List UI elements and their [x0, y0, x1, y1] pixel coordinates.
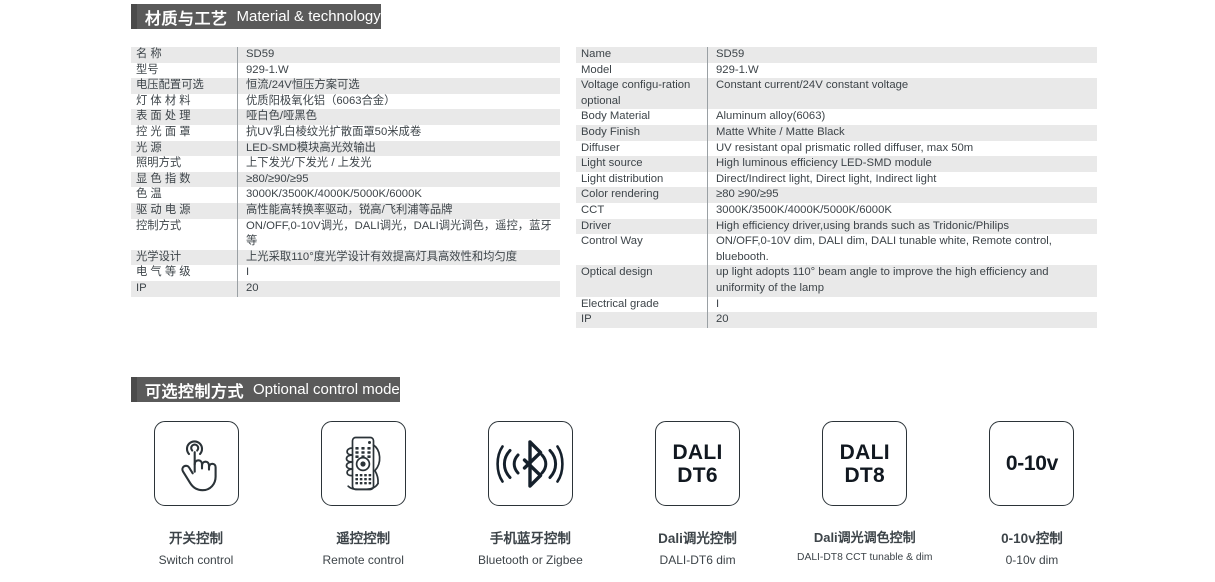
- table-row: Body FinishMatte White / Matte Black: [576, 125, 1097, 141]
- control-mode-label-en: DALI-DT8 CCT tunable & dim: [797, 552, 932, 563]
- dali-text-line2: DT6: [672, 464, 722, 487]
- touch-hand-icon-box[interactable]: [154, 421, 239, 506]
- spec-value: I: [238, 265, 560, 281]
- spec-value: Direct/Indirect light, Direct light, Ind…: [708, 172, 1097, 188]
- dali-dt6-icon-box[interactable]: DALIDT6: [655, 421, 740, 506]
- table-row: 显 色 指 数≥80/≥90/≥95: [131, 172, 560, 188]
- spec-value: ≥80 ≥90/≥95: [708, 187, 1097, 203]
- table-row: 型号929-1.W: [131, 63, 560, 79]
- control-mode-label-en: DALI-DT6 dim: [660, 553, 736, 567]
- table-row: Electrical gradeI: [576, 297, 1097, 313]
- dali-text-line2: DT8: [840, 464, 890, 487]
- control-mode-item[interactable]: 遥控控制Remote control: [298, 421, 428, 567]
- dali-dt8-icon-box[interactable]: DALIDT8: [822, 421, 907, 506]
- control-mode-label-cn: Dali调光调色控制: [814, 527, 916, 546]
- table-row: 电压配置可选恒流/24V恒压方案可选: [131, 78, 560, 94]
- spec-label: 光学设计: [131, 250, 237, 266]
- spec-label: Name: [576, 47, 707, 63]
- control-mode-label-en: Remote control: [323, 553, 404, 567]
- table-row: 光 源LED-SMD模块高光效输出: [131, 141, 560, 157]
- table-row: 电 气 等 级I: [131, 265, 560, 281]
- spec-value: Matte White / Matte Black: [708, 125, 1097, 141]
- spec-value: UV resistant opal prismatic rolled diffu…: [708, 141, 1097, 157]
- table-row: 名 称SD59: [131, 47, 560, 63]
- spec-label: 光 源: [131, 141, 237, 157]
- zero-to-ten-volt-icon: 0-10v: [1006, 452, 1058, 476]
- table-row: 驱 动 电 源高性能高转换率驱动，锐高/飞利浦等品牌: [131, 203, 560, 219]
- spec-label: Model: [576, 63, 707, 79]
- spec-value: SD59: [708, 47, 1097, 63]
- control-mode-label-en: Switch control: [159, 553, 234, 567]
- table-row: 光学设计上光采取110°度光学设计有效提高灯具高效性和均匀度: [131, 250, 560, 266]
- spec-value: ON/OFF,0-10V dim, DALI dim, DALI tunable…: [708, 234, 1097, 265]
- spec-label: Light source: [576, 156, 707, 172]
- spec-label: CCT: [576, 203, 707, 219]
- spec-value: Constant current/24V constant voltage: [708, 78, 1097, 109]
- spec-label: Control Way: [576, 234, 707, 265]
- spec-value: up light adopts 110° beam angle to impro…: [708, 265, 1097, 296]
- spec-value: LED-SMD模块高光效输出: [238, 141, 560, 157]
- bluetooth-icon-box[interactable]: [488, 421, 573, 506]
- table-row: 灯 体 材 料优质阳极氧化铝（6063合金）: [131, 94, 560, 110]
- touch-hand-icon: [168, 434, 224, 494]
- spec-label: 电压配置可选: [131, 78, 237, 94]
- control-mode-list: 开关控制Switch control 遥控控制Remote control: [131, 421, 1097, 567]
- spec-label: IP: [576, 312, 707, 328]
- spec-label: 电 气 等 级: [131, 265, 237, 281]
- table-row: 色 温3000K/3500K/4000K/5000K/6000K: [131, 187, 560, 203]
- remote-control-icon: [333, 433, 393, 495]
- table-row: NameSD59: [576, 47, 1097, 63]
- section-header-material-en: Material & technology: [237, 8, 381, 25]
- spec-label: IP: [131, 281, 237, 297]
- control-mode-label-cn: Dali调光控制: [658, 527, 737, 547]
- control-mode-item[interactable]: 0-10v0-10v控制0-10v dim: [967, 421, 1097, 567]
- table-row: 表 面 处 理哑白色/哑黑色: [131, 109, 560, 125]
- section-header-control-mode-cn: 可选控制方式: [145, 378, 244, 402]
- control-mode-label-cn: 手机蓝牙控制: [490, 527, 571, 547]
- control-mode-label-en: 0-10v dim: [1006, 553, 1059, 567]
- spec-label: Light distribution: [576, 172, 707, 188]
- spec-label: Electrical grade: [576, 297, 707, 313]
- table-row: CCT3000K/3500K/4000K/5000K/6000K: [576, 203, 1097, 219]
- spec-label: 灯 体 材 料: [131, 94, 237, 110]
- spec-value: 高性能高转换率驱动，锐高/飞利浦等品牌: [238, 203, 560, 219]
- zero-to-ten-volt-icon-box[interactable]: 0-10v: [989, 421, 1074, 506]
- dali-dt8-icon: DALIDT8: [840, 441, 890, 487]
- table-row: DiffuserUV resistant opal prismatic roll…: [576, 141, 1097, 157]
- table-row: Color rendering≥80 ≥90/≥95: [576, 187, 1097, 203]
- table-row: Voltage configu-ration optionalConstant …: [576, 78, 1097, 109]
- spec-value: SD59: [238, 47, 560, 63]
- spec-label: 显 色 指 数: [131, 172, 237, 188]
- control-mode-item[interactable]: DALIDT6Dali调光控制DALI-DT6 dim: [633, 421, 763, 567]
- table-row: Light distributionDirect/Indirect light,…: [576, 172, 1097, 188]
- spec-table-en: NameSD59Model929-1.WVoltage configu-rati…: [576, 47, 1097, 328]
- table-row: Model929-1.W: [576, 63, 1097, 79]
- spec-table-cn: 名 称SD59型号929-1.W电压配置可选恒流/24V恒压方案可选灯 体 材 …: [131, 47, 560, 297]
- spec-label: Optical design: [576, 265, 707, 296]
- spec-label: Body Material: [576, 109, 707, 125]
- spec-label: 驱 动 电 源: [131, 203, 237, 219]
- spec-label: 色 温: [131, 187, 237, 203]
- spec-label: Diffuser: [576, 141, 707, 157]
- spec-value: High efficiency driver,using brands such…: [708, 219, 1097, 235]
- spec-label: Color rendering: [576, 187, 707, 203]
- spec-label: 控 光 面 罩: [131, 125, 237, 141]
- control-mode-label-en: Bluetooth or Zigbee: [478, 553, 583, 567]
- spec-value: 恒流/24V恒压方案可选: [238, 78, 560, 94]
- control-mode-label-cn: 开关控制: [169, 527, 223, 547]
- spec-value: 929-1.W: [238, 63, 560, 79]
- control-mode-item[interactable]: DALIDT8Dali调光调色控制DALI-DT8 CCT tunable & …: [800, 421, 930, 567]
- spec-label: Body Finish: [576, 125, 707, 141]
- dali-dt6-icon: DALIDT6: [672, 441, 722, 487]
- spec-value: 上光采取110°度光学设计有效提高灯具高效性和均匀度: [238, 250, 560, 266]
- table-row: Optical designup light adopts 110° beam …: [576, 265, 1097, 296]
- spec-value: ≥80/≥90/≥95: [238, 172, 560, 188]
- table-row: 控制方式ON/OFF,0-10V调光，DALI调光，DALI调光调色，遥控，蓝牙…: [131, 219, 560, 250]
- control-mode-item[interactable]: 手机蓝牙控制Bluetooth or Zigbee: [465, 421, 595, 567]
- spec-label: 照明方式: [131, 156, 237, 172]
- control-mode-item[interactable]: 开关控制Switch control: [131, 421, 261, 567]
- spec-label: Voltage configu-ration optional: [576, 78, 707, 109]
- section-header-control-mode: 可选控制方式 Optional control mode: [131, 377, 400, 402]
- section-header-control-mode-en: Optional control mode: [253, 381, 400, 398]
- spec-value: I: [708, 297, 1097, 313]
- spec-value: 3000K/3500K/4000K/5000K/6000K: [708, 203, 1097, 219]
- table-row: Body MaterialAluminum alloy(6063): [576, 109, 1097, 125]
- table-row: IP20: [131, 281, 560, 297]
- bluetooth-icon: [496, 438, 564, 490]
- spec-label: Driver: [576, 219, 707, 235]
- table-row: Control WayON/OFF,0-10V dim, DALI dim, D…: [576, 234, 1097, 265]
- table-row: IP20: [576, 312, 1097, 328]
- spec-value: ON/OFF,0-10V调光，DALI调光，DALI调光调色，遥控，蓝牙等: [238, 219, 560, 250]
- table-row: 照明方式上下发光/下发光 / 上发光: [131, 156, 560, 172]
- section-header-material: 材质与工艺 Material & technology: [131, 4, 381, 29]
- spec-value: 抗UV乳白棱纹光扩散面罩50米成卷: [238, 125, 560, 141]
- remote-control-icon-box[interactable]: [321, 421, 406, 506]
- spec-value: Aluminum alloy(6063): [708, 109, 1097, 125]
- table-row: Light sourceHigh luminous efficiency LED…: [576, 156, 1097, 172]
- control-mode-label-cn: 0-10v控制: [1001, 527, 1063, 547]
- spec-value: 20: [238, 281, 560, 297]
- spec-value: 3000K/3500K/4000K/5000K/6000K: [238, 187, 560, 203]
- spec-value: 20: [708, 312, 1097, 328]
- spec-value: High luminous efficiency LED-SMD module: [708, 156, 1097, 172]
- spec-label: 型号: [131, 63, 237, 79]
- spec-value: 929-1.W: [708, 63, 1097, 79]
- control-mode-label-cn: 遥控控制: [336, 527, 390, 547]
- spec-label: 控制方式: [131, 219, 237, 250]
- spec-label: 名 称: [131, 47, 237, 63]
- spec-value: 上下发光/下发光 / 上发光: [238, 156, 560, 172]
- table-row: DriverHigh efficiency driver,using brand…: [576, 219, 1097, 235]
- spec-value: 哑白色/哑黑色: [238, 109, 560, 125]
- dali-text-line1: DALI: [672, 441, 722, 464]
- dali-text-line1: DALI: [840, 441, 890, 464]
- spec-label: 表 面 处 理: [131, 109, 237, 125]
- spec-value: 优质阳极氧化铝（6063合金）: [238, 94, 560, 110]
- section-header-material-cn: 材质与工艺: [145, 5, 228, 29]
- table-row: 控 光 面 罩抗UV乳白棱纹光扩散面罩50米成卷: [131, 125, 560, 141]
